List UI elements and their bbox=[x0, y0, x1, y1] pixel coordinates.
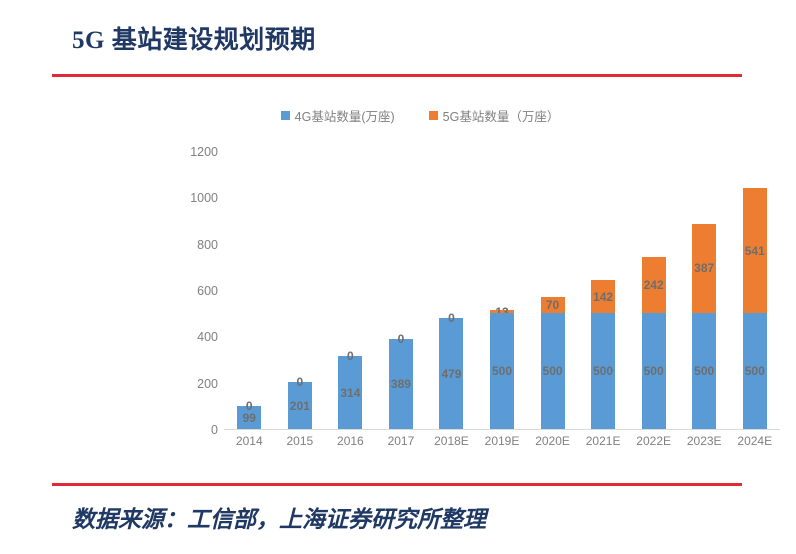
bar-value-label-5g: 0 bbox=[347, 349, 354, 363]
y-axis-tick: 400 bbox=[160, 330, 218, 344]
bar-value-label-4g: 500 bbox=[593, 364, 613, 378]
x-axis-tick: 2014 bbox=[224, 434, 275, 448]
bar-stack[interactable]: 4790 bbox=[439, 318, 463, 429]
bar-segment-4g[interactable]: 2010 bbox=[288, 382, 312, 429]
bar-segment-5g[interactable]: 70 bbox=[541, 297, 565, 313]
bar-segment-4g[interactable]: 500 bbox=[692, 313, 716, 429]
x-axis-tick: 2021E bbox=[578, 434, 629, 448]
bar-stack[interactable]: 3140 bbox=[338, 356, 362, 429]
bar-segment-4g[interactable]: 500 bbox=[591, 313, 615, 429]
bar-value-label-5g: 70 bbox=[546, 298, 559, 312]
bar-column[interactable]: 4790 bbox=[426, 152, 477, 429]
y-axis-tick: 800 bbox=[160, 238, 218, 252]
bar-value-label-5g: 387 bbox=[694, 261, 714, 275]
bar-stack[interactable]: 242500 bbox=[642, 257, 666, 429]
bar-value-label-4g: 479 bbox=[441, 367, 461, 381]
bar-segment-5g[interactable]: 142 bbox=[591, 280, 615, 313]
bar-value-label-5g: 0 bbox=[296, 375, 303, 389]
x-axis-tick: 2017 bbox=[376, 434, 427, 448]
bar-column[interactable]: 541500 bbox=[729, 152, 780, 429]
legend-item-4g[interactable]: 4G基站数量(万座) bbox=[281, 106, 395, 125]
page-title: 5G 基站建设规划预期 bbox=[72, 20, 316, 56]
y-axis-tick: 0 bbox=[160, 423, 218, 437]
bar-column[interactable]: 142500 bbox=[578, 152, 629, 429]
bar-value-label-4g: 201 bbox=[290, 399, 310, 413]
legend-swatch-icon bbox=[281, 111, 290, 120]
header-divider bbox=[52, 74, 742, 77]
plot-inner: 9902010314038904790135007050014250024250… bbox=[224, 152, 780, 430]
x-axis-line bbox=[224, 429, 780, 430]
bar-value-label-4g: 314 bbox=[340, 386, 360, 400]
chart-legend: 4G基站数量(万座)5G基站数量（万座） bbox=[160, 106, 680, 125]
bar-value-label-4g: 500 bbox=[694, 364, 714, 378]
y-axis-tick: 1200 bbox=[160, 145, 218, 159]
bar-stack[interactable]: 3890 bbox=[389, 339, 413, 429]
legend-item-5g[interactable]: 5G基站数量（万座） bbox=[429, 106, 560, 125]
bar-segment-4g[interactable]: 500 bbox=[743, 313, 767, 429]
x-axis-tick: 2019E bbox=[477, 434, 528, 448]
chart-plot-area: 120010008006004002000 990201031403890479… bbox=[160, 152, 780, 442]
x-axis-tick: 2018E bbox=[426, 434, 477, 448]
bar-column[interactable]: 990 bbox=[224, 152, 275, 429]
bar-segment-4g[interactable]: 3140 bbox=[338, 356, 362, 429]
bar-stack[interactable]: 387500 bbox=[692, 224, 716, 429]
bar-column[interactable]: 387500 bbox=[679, 152, 730, 429]
bar-stack[interactable]: 13500 bbox=[490, 310, 514, 429]
bar-segment-5g[interactable]: 387 bbox=[692, 224, 716, 314]
bar-column[interactable]: 3140 bbox=[325, 152, 376, 429]
y-axis-tick: 1000 bbox=[160, 191, 218, 205]
bar-value-label-4g: 500 bbox=[543, 364, 563, 378]
bar-series-group: 9902010314038904790135007050014250024250… bbox=[224, 152, 780, 429]
bar-segment-4g[interactable]: 990 bbox=[237, 406, 261, 429]
y-axis-tick: 200 bbox=[160, 377, 218, 391]
bar-value-label-5g: 242 bbox=[644, 278, 664, 292]
bar-column[interactable]: 70500 bbox=[527, 152, 578, 429]
bar-column[interactable]: 3890 bbox=[376, 152, 427, 429]
chart-container: 4G基站数量(万座)5G基站数量（万座） 1200100080060040020… bbox=[160, 96, 780, 476]
bar-value-label-5g: 0 bbox=[398, 332, 405, 346]
source-note: 数据来源：工信部，上海证券研究所整理 bbox=[72, 500, 486, 534]
bar-value-label-4g: 389 bbox=[391, 377, 411, 391]
bar-value-label-4g: 500 bbox=[644, 364, 664, 378]
y-axis: 120010008006004002000 bbox=[160, 152, 218, 430]
bar-segment-4g[interactable]: 500 bbox=[642, 313, 666, 429]
x-axis: 20142015201620172018E2019E2020E2021E2022… bbox=[224, 434, 780, 448]
bar-stack[interactable]: 990 bbox=[237, 406, 261, 429]
legend-swatch-icon bbox=[429, 111, 438, 120]
x-axis-tick: 2024E bbox=[729, 434, 780, 448]
x-axis-tick: 2016 bbox=[325, 434, 376, 448]
y-axis-tick: 600 bbox=[160, 284, 218, 298]
bar-stack[interactable]: 70500 bbox=[541, 297, 565, 429]
legend-label: 5G基站数量（万座） bbox=[443, 106, 560, 125]
bar-column[interactable]: 2010 bbox=[275, 152, 326, 429]
bar-stack[interactable]: 2010 bbox=[288, 382, 312, 429]
bar-segment-4g[interactable]: 500 bbox=[541, 313, 565, 429]
bar-column[interactable]: 13500 bbox=[477, 152, 528, 429]
x-axis-tick: 2015 bbox=[275, 434, 326, 448]
x-axis-tick: 2020E bbox=[527, 434, 578, 448]
bar-segment-4g[interactable]: 3890 bbox=[389, 339, 413, 429]
bar-value-label-5g: 541 bbox=[745, 244, 765, 258]
bar-value-label-5g: 0 bbox=[448, 311, 455, 325]
legend-label: 4G基站数量(万座) bbox=[295, 106, 395, 125]
bar-stack[interactable]: 142500 bbox=[591, 280, 615, 429]
bar-segment-4g[interactable]: 500 bbox=[490, 313, 514, 429]
x-axis-tick: 2022E bbox=[628, 434, 679, 448]
bar-value-label-4g: 500 bbox=[492, 364, 512, 378]
footer-divider bbox=[52, 483, 742, 486]
bar-stack[interactable]: 541500 bbox=[743, 188, 767, 429]
bar-value-label-5g: 142 bbox=[593, 290, 613, 304]
bar-column[interactable]: 242500 bbox=[628, 152, 679, 429]
bar-segment-5g[interactable]: 242 bbox=[642, 257, 666, 313]
bar-value-label-4g: 500 bbox=[745, 364, 765, 378]
bar-value-label-5g: 0 bbox=[246, 399, 253, 413]
bar-segment-4g[interactable]: 4790 bbox=[439, 318, 463, 429]
bar-segment-5g[interactable]: 541 bbox=[743, 188, 767, 313]
slide-canvas: 5G 基站建设规划预期 4G基站数量(万座)5G基站数量（万座） 1200100… bbox=[0, 0, 796, 554]
x-axis-tick: 2023E bbox=[679, 434, 730, 448]
